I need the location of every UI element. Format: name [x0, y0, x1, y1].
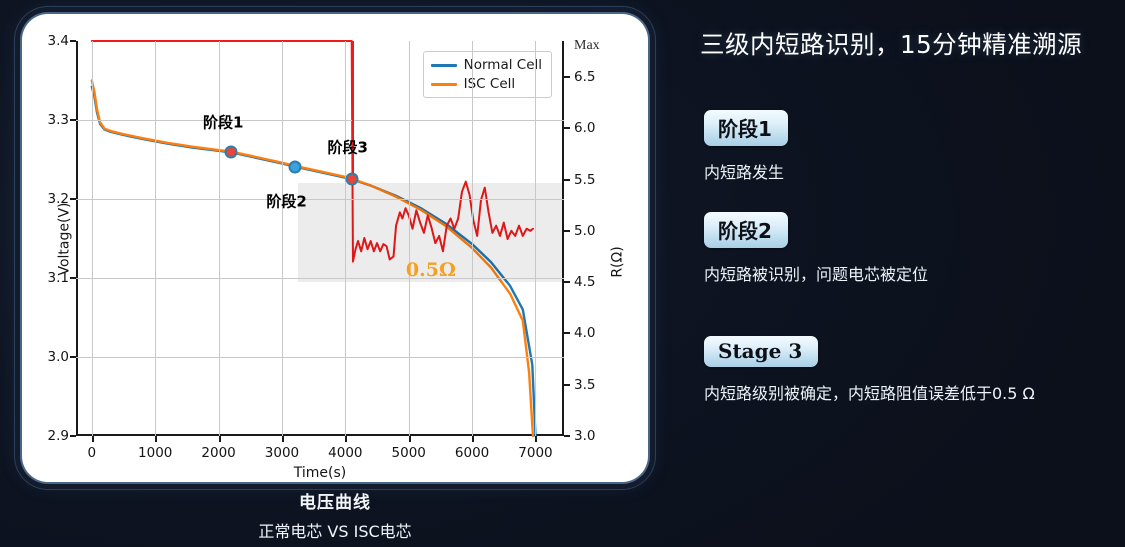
- x-tick-label: 4000: [328, 445, 362, 461]
- x-tick-mark: [535, 436, 537, 442]
- caption-title: 电压曲线: [22, 488, 648, 513]
- x-tick-label: 0: [88, 445, 97, 461]
- caption-subtitle: 正常电芯 VS ISC电芯: [22, 518, 648, 542]
- y2-tick-label: 3.5: [574, 377, 595, 393]
- stage-desc-3: 内短路级别被确定，内短路阻值误差低于0.5 Ω: [704, 380, 1035, 404]
- y2-tick-label: 3.0: [574, 428, 595, 444]
- y2-tick-label: 5.0: [574, 223, 595, 239]
- y2-tick-label: 4.5: [574, 274, 595, 290]
- axis-max-label: Max: [574, 38, 600, 54]
- y-tick-label: 3.1: [48, 270, 69, 286]
- x-tick-label: 2000: [201, 445, 235, 461]
- x-tick-label: 1000: [138, 445, 172, 461]
- x-tick-mark: [282, 436, 284, 442]
- stage-marker-label-2: 阶段2: [266, 190, 306, 211]
- y2-axis-title: R(Ω): [610, 247, 626, 278]
- y-tick-label: 3.0: [48, 349, 69, 365]
- y2-tick-label: 5.5: [574, 172, 595, 188]
- y2-tick-label: 6.5: [574, 69, 595, 85]
- grid-line-vertical: [219, 41, 220, 436]
- chart-plot-area: Max Voltage(V) R(Ω) Time(s) Normal CellI…: [76, 41, 564, 436]
- y-tick-mark: [70, 435, 76, 437]
- y-tick-label: 3.2: [48, 191, 69, 207]
- panel-title: 三级内短路识别，15分钟精准溯源: [700, 26, 1110, 61]
- y2-tick-mark: [564, 332, 570, 334]
- y2-tick-mark: [564, 435, 570, 437]
- x-tick-label: 7000: [518, 445, 552, 461]
- x-tick-mark: [472, 436, 474, 442]
- x-axis-title: Time(s): [294, 465, 346, 481]
- stage-marker-label-3: 阶段3: [327, 137, 367, 158]
- grid-line-vertical: [472, 41, 473, 436]
- x-tick-label: 6000: [455, 445, 489, 461]
- stage-badge-1: 阶段1: [704, 110, 788, 146]
- grid-line-vertical: [155, 41, 156, 436]
- y-tick-mark: [70, 40, 76, 42]
- legend-swatch: [431, 64, 457, 67]
- chart-legend: Normal CellISC Cell: [423, 51, 552, 98]
- x-tick-label: 3000: [265, 445, 299, 461]
- y-tick-mark: [70, 356, 76, 358]
- stage-marker-3[interactable]: [345, 173, 358, 186]
- stage-block-2: 阶段2 内短路被识别，问题电芯被定位: [704, 212, 928, 285]
- grid-line-horizontal: [76, 120, 564, 121]
- grid-line-horizontal: [76, 357, 564, 358]
- legend-item[interactable]: Normal Cell: [431, 57, 542, 73]
- y2-tick-mark: [564, 76, 570, 78]
- y-tick-label: 3.3: [48, 112, 69, 128]
- grid-line-vertical: [409, 41, 410, 436]
- y2-tick-mark: [564, 179, 570, 181]
- grid-line-horizontal: [76, 199, 564, 200]
- stage3-trigger-vline: [352, 41, 354, 179]
- x-tick-label: 5000: [392, 445, 426, 461]
- grid-line-vertical: [92, 41, 93, 436]
- grid-line-vertical: [535, 41, 536, 436]
- stage-marker-1[interactable]: [225, 146, 238, 159]
- y-tick-label: 3.4: [48, 33, 69, 49]
- stage-marker-2[interactable]: [288, 160, 301, 173]
- grid-line-vertical: [345, 41, 346, 436]
- stage-desc-2: 内短路被识别，问题电芯被定位: [704, 261, 928, 285]
- x-tick-mark: [345, 436, 347, 442]
- grid-line-vertical: [282, 41, 283, 436]
- slide-root: Max Voltage(V) R(Ω) Time(s) Normal CellI…: [0, 0, 1125, 547]
- y2-tick-mark: [564, 127, 570, 129]
- stage-desc-1: 内短路发生: [704, 159, 788, 183]
- y2-tick-mark: [564, 230, 570, 232]
- y2-tick-label: 4.0: [574, 325, 595, 341]
- chart-caption: 电压曲线 正常电芯 VS ISC电芯: [22, 488, 648, 542]
- y2-tick-mark: [564, 281, 570, 283]
- y-tick-mark: [70, 198, 76, 200]
- y-axis-title: Voltage(V): [57, 202, 73, 275]
- x-tick-mark: [92, 436, 94, 442]
- info-panel: 三级内短路识别，15分钟精准溯源 阶段1 内短路发生 阶段2 内短路被识别，问题…: [700, 26, 1110, 61]
- stage-badge-3: Stage 3: [704, 336, 818, 367]
- y2-tick-label: 6.0: [574, 120, 595, 136]
- chart-card-wrapper: Max Voltage(V) R(Ω) Time(s) Normal CellI…: [22, 14, 648, 482]
- y-tick-label: 2.9: [48, 428, 69, 444]
- stage-badge-2: 阶段2: [704, 212, 788, 248]
- resistance-value-label: 0.5Ω: [406, 259, 456, 281]
- legend-label: Normal Cell: [464, 57, 542, 73]
- stage-block-1: 阶段1 内短路发生: [704, 110, 788, 183]
- grid-line-horizontal: [76, 278, 564, 279]
- stage-marker-label-1: 阶段1: [203, 112, 243, 133]
- y-tick-mark: [70, 277, 76, 279]
- legend-item[interactable]: ISC Cell: [431, 76, 542, 92]
- y-tick-mark: [70, 119, 76, 121]
- x-tick-mark: [219, 436, 221, 442]
- x-tick-mark: [155, 436, 157, 442]
- stage-block-3: Stage 3 内短路级别被确定，内短路阻值误差低于0.5 Ω: [704, 336, 1035, 404]
- y2-tick-mark: [564, 384, 570, 386]
- x-tick-mark: [409, 436, 411, 442]
- legend-swatch: [431, 83, 457, 86]
